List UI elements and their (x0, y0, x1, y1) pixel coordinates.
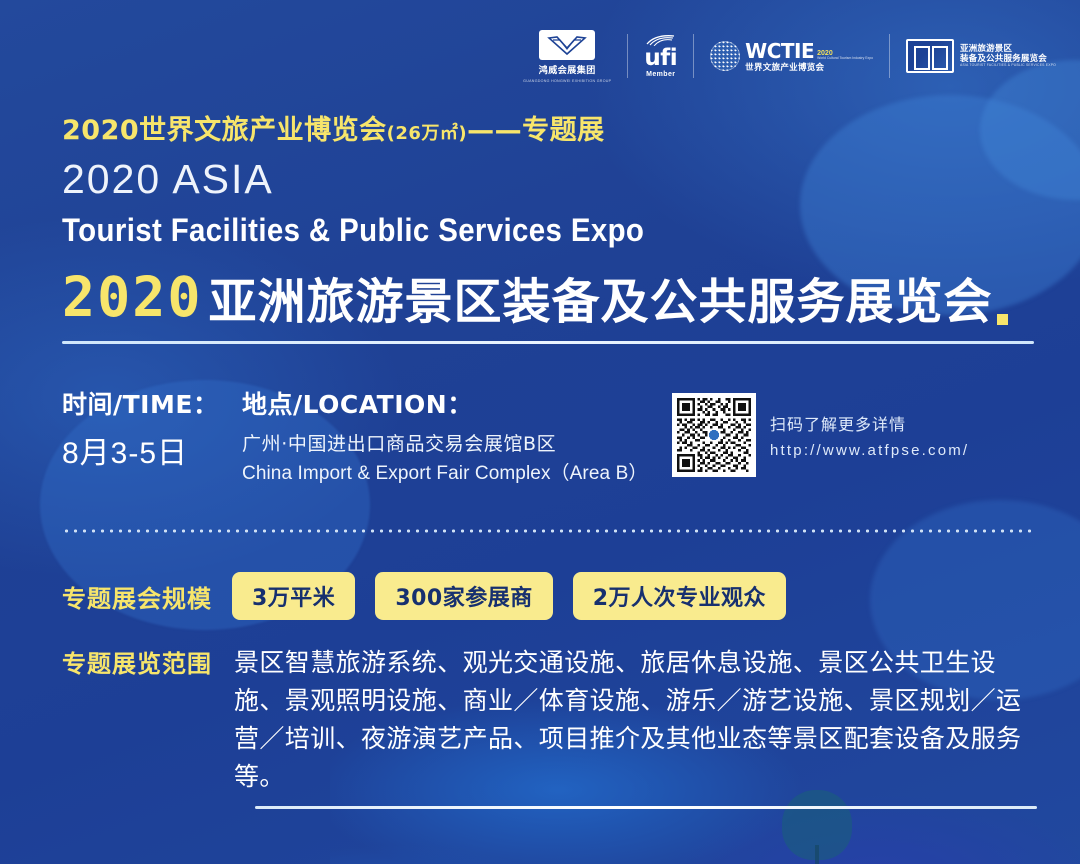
title-period-mark (997, 314, 1008, 325)
qr-caption: 扫码了解更多详情 (770, 411, 969, 435)
main-title-cn: 亚洲旅游景区装备及公共服务展览会 (208, 262, 992, 332)
time-column: 时间/TIME： 8月3-5日 (62, 388, 242, 472)
location-column: 地点/LOCATION： 广州·中国进出口商品交易会展馆B区 China Imp… (242, 388, 672, 485)
headline-suffix: ——专题展 (467, 115, 605, 146)
logo-hongwei-exhibition-group: 鸿威会展集团 GUANGDONG HONGWEI EXHIBITION GROU… (507, 27, 627, 85)
ufi-logo-title: ufi (644, 47, 677, 70)
expo-scope-row: 专题展览范围 景区智慧旅游系统、观光交通设施、旅居休息设施、景区公共卫生设施、景… (62, 644, 1047, 796)
scale-badge-exhibitors: 300家参展商 (375, 572, 552, 620)
event-info-row: 时间/TIME： 8月3-5日 地点/LOCATION： 广州·中国进出口商品交… (62, 388, 672, 485)
poster-canvas: 鸿威会展集团 GUANGDONG HONGWEI EXHIBITION GROU… (0, 0, 1080, 864)
divider-rule-top (62, 341, 1034, 344)
qr-code-image[interactable] (672, 393, 756, 477)
globe-icon (710, 41, 740, 71)
location-value-cn: 广州·中国进出口商品交易会展馆B区 (242, 429, 672, 456)
logo-ufi-member: ufi Member (628, 27, 693, 85)
qr-url[interactable]: http://www.atfpse.com/ (770, 442, 969, 459)
time-value: 8月3-5日 (62, 428, 242, 472)
scale-label: 专题展会规模 (62, 579, 212, 614)
scale-badge-area: 3万平米 (232, 572, 355, 620)
subtitle-asia: 2020 ASIA (62, 156, 274, 203)
location-value-en: China Import & Export Fair Complex（Area … (242, 458, 672, 485)
scale-badge-visitors: 2万人次专业观众 (573, 572, 786, 620)
divider-rule-bottom (255, 806, 1037, 809)
divider-dotted (62, 529, 1034, 533)
hongwei-wing-mark-icon (539, 30, 595, 60)
tfpse-monogram-icon (906, 39, 954, 73)
location-label: 地点/LOCATION： (242, 388, 672, 422)
wctie-logo-title: WCTIE (745, 41, 814, 61)
time-label: 时间/TIME： (62, 388, 242, 422)
event-headline-cn: 2020世界文旅产业博览会(26万㎡)——专题展 (62, 108, 605, 147)
main-title: 2020 亚洲旅游景区装备及公共服务展览会 (62, 262, 1008, 332)
scope-label: 专题展览范围 (62, 644, 212, 679)
subtitle-english: Tourist Facilities & Public Services Exp… (62, 212, 644, 249)
tfpse-logo-en: ASIA TOURIST FACILITIES & PUBLIC SERVICE… (960, 64, 1056, 68)
wctie-logo-cn: 世界文旅产业博览会 (745, 63, 873, 72)
logo-bar: 鸿威会展集团 GUANGDONG HONGWEI EXHIBITION GROU… (507, 26, 1072, 86)
hongwei-logo-cn: 鸿威会展集团 (539, 63, 596, 76)
logo-wctie: WCTIE 2020 World Cultural Tourism Indust… (694, 27, 889, 85)
logo-tfpse: 亚洲旅游景区 装备及公共服务展览会 ASIA TOURIST FACILITIE… (890, 27, 1072, 85)
headline-main: 2020世界文旅产业博览会 (62, 115, 387, 146)
ufi-logo-sub: Member (646, 71, 675, 78)
wctie-logo-tagline: World Cultural Tourism Industry Expo (817, 57, 873, 61)
qr-block: 扫码了解更多详情 http://www.atfpse.com/ (672, 393, 969, 477)
hongwei-logo-en: GUANGDONG HONGWEI EXHIBITION GROUP (523, 79, 611, 83)
scope-text: 景区智慧旅游系统、观光交通设施、旅居休息设施、景区公共卫生设施、景观照明设施、商… (234, 644, 1029, 796)
headline-area: (26万㎡) (387, 123, 468, 144)
main-title-year: 2020 (62, 265, 202, 329)
expo-scale-row: 专题展会规模 3万平米 300家参展商 2万人次专业观众 (62, 572, 786, 620)
tree-silhouette-icon (782, 790, 852, 864)
